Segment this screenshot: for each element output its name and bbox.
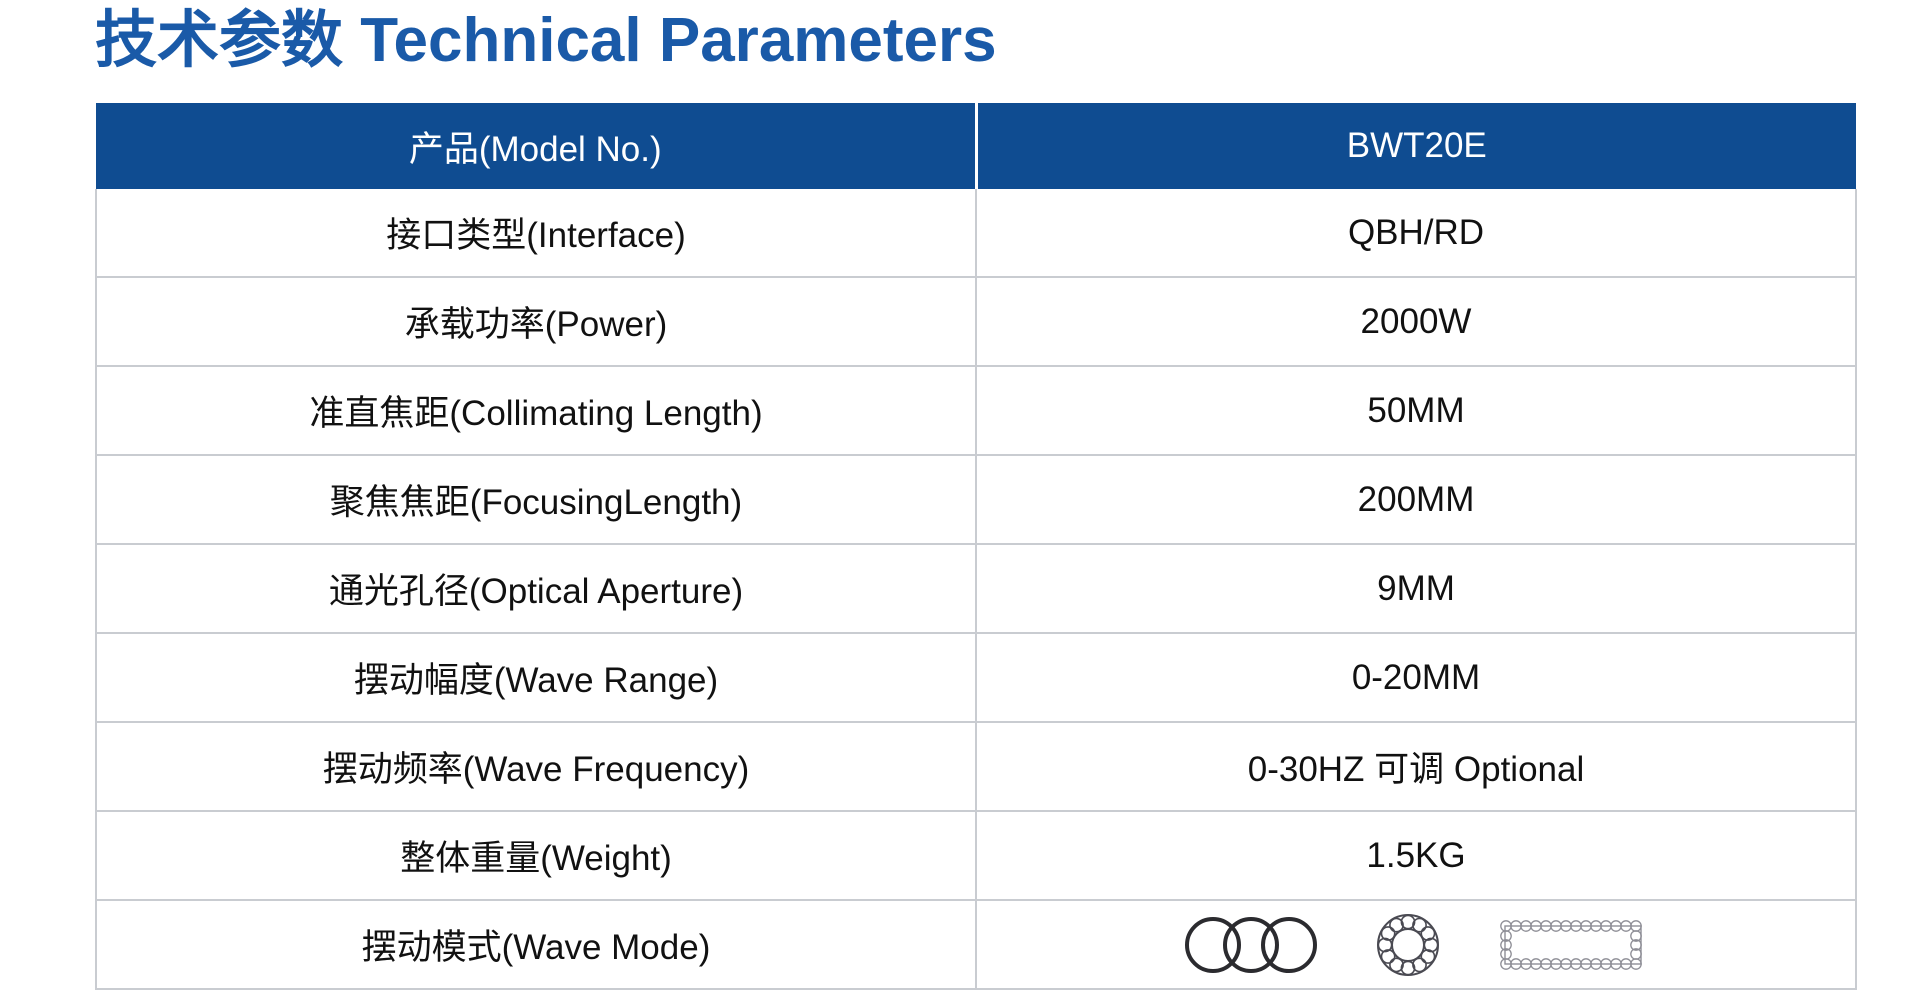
rectangular-ring-of-circles-icon	[1498, 915, 1648, 975]
table-row: 准直焦距(Collimating Length) 50MM	[96, 366, 1856, 455]
row-value-interface: QBH/RD	[976, 189, 1856, 277]
row-value-optical-aperture: 9MM	[976, 544, 1856, 633]
technical-parameters-table: 产品(Model No.) BWT20E 接口类型(Interface) QBH…	[95, 103, 1857, 990]
row-value-collimating-length: 50MM	[976, 366, 1856, 455]
row-label-collimating-length: 准直焦距(Collimating Length)	[96, 366, 976, 455]
table-body: 接口类型(Interface) QBH/RD 承载功率(Power) 2000W…	[96, 189, 1856, 989]
page-title-en: Technical Parameters	[360, 6, 996, 75]
row-label-weight: 整体重量(Weight)	[96, 811, 976, 900]
page-title: 技术参数 Technical Parameters	[95, 5, 997, 76]
row-label-power: 承载功率(Power)	[96, 277, 976, 366]
row-label-focusing-length: 聚焦焦距(FocusingLength)	[96, 455, 976, 544]
table-row: 接口类型(Interface) QBH/RD	[96, 189, 1856, 277]
row-label-wave-frequency: 摆动频率(Wave Frequency)	[96, 722, 976, 811]
page-title-cn: 技术参数	[95, 6, 360, 75]
circular-ring-of-circles-icon	[1376, 913, 1440, 977]
table-row: 摆动幅度(Wave Range) 0-20MM	[96, 633, 1856, 722]
header-cell-model-value: BWT20E	[976, 103, 1856, 189]
table-row: 摆动频率(Wave Frequency) 0-30HZ 可调 Optional	[96, 722, 1856, 811]
table-row: 聚焦焦距(FocusingLength) 200MM	[96, 455, 1856, 544]
wave-mode-icon-group	[977, 913, 1855, 977]
three-overlapping-circles-icon	[1184, 915, 1318, 975]
table-row: 承载功率(Power) 2000W	[96, 277, 1856, 366]
table-row: 整体重量(Weight) 1.5KG	[96, 811, 1856, 900]
row-label-wave-range: 摆动幅度(Wave Range)	[96, 633, 976, 722]
table-header-row: 产品(Model No.) BWT20E	[96, 103, 1856, 189]
row-value-focusing-length: 200MM	[976, 455, 1856, 544]
row-value-weight: 1.5KG	[976, 811, 1856, 900]
row-label-interface: 接口类型(Interface)	[96, 189, 976, 277]
technical-parameters-page: 技术参数 Technical Parameters 产品(Model No.) …	[0, 0, 1920, 988]
row-value-wave-range: 0-20MM	[976, 633, 1856, 722]
row-label-optical-aperture: 通光孔径(Optical Aperture)	[96, 544, 976, 633]
table-row: 摆动模式(Wave Mode)	[96, 900, 1856, 989]
row-value-wave-frequency: 0-30HZ 可调 Optional	[976, 722, 1856, 811]
row-label-wave-mode: 摆动模式(Wave Mode)	[96, 900, 976, 989]
row-value-wave-mode	[976, 900, 1856, 989]
table-row: 通光孔径(Optical Aperture) 9MM	[96, 544, 1856, 633]
header-cell-model-label: 产品(Model No.)	[96, 103, 976, 189]
row-value-power: 2000W	[976, 277, 1856, 366]
